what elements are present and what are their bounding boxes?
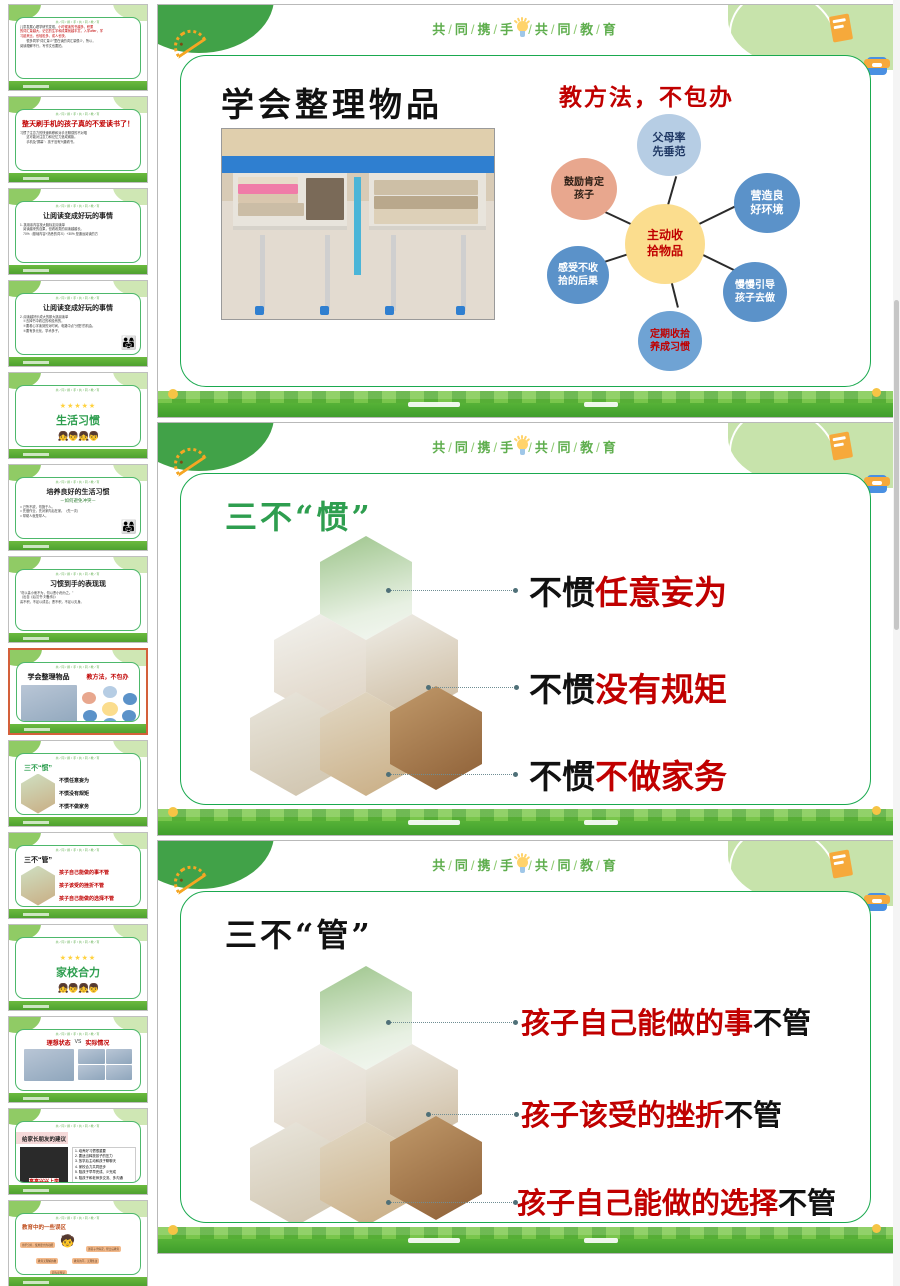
bullet-emphasis: 不管: [753, 1006, 811, 1040]
slide-heading: 三不“管”: [225, 910, 373, 956]
banner-segment-2: 同: [455, 858, 471, 873]
node-line-1: 鼓励肯定: [564, 176, 604, 189]
thumb-mindmap: [80, 685, 136, 723]
bullet-item-3: 孩子自己能做的选择不管: [517, 1180, 836, 1222]
banner-separator: /: [471, 440, 478, 455]
thumb-body: 孩子自己能做的事不管孩子该受的挫折不管孩子自己能做的选择不管: [16, 866, 140, 906]
thumb-title-right: 实际情况: [85, 1038, 109, 1047]
banner-segment-8: 育: [603, 22, 619, 37]
bullet-item-2: 不惯没有规矩: [529, 663, 727, 711]
thumb-title: 习惯到手的表现现: [16, 576, 140, 590]
schoolbag-icon: [867, 893, 887, 911]
slide-content-card-2: 三不“惯” 不惯任意妄为 不惯没有规矩: [180, 473, 871, 805]
classroom-desk-photo: [221, 128, 495, 320]
banner-separator: /: [448, 858, 455, 873]
banner-segment-3: 携: [478, 22, 494, 37]
thumb-body: 1. 挑用亲内容找大脑标定阅读单 阅读越来的自果，但看着类的阅读越越长。 70%…: [16, 222, 140, 239]
thumb-title-card: ★★★★★家校合力👧👦👧👦: [16, 944, 140, 1000]
leader-line-1: [389, 590, 514, 591]
slide-organize-items[interactable]: 共/同/携/手/共/同/教/育 学会整理物品: [157, 4, 894, 418]
bullet-item-3: 不惯不做家务: [529, 750, 727, 798]
thumb-banner: 共/同/携/手/共/同/教/育: [16, 1122, 140, 1128]
mindmap-node-guide-slowly[interactable]: 慢慢引导 孩子去做: [723, 262, 787, 322]
thumb-grass-strip: [9, 909, 147, 918]
thumb-body: "勿以善小而不为，勿以恶小而为之。"（出自《后汉书·刘备传》）善不积，不足以成名…: [16, 590, 140, 607]
bullet-prefix: 孩子该受的挫折: [521, 1098, 724, 1132]
thumb-grass-strip: [9, 449, 147, 458]
mindmap-node-encourage[interactable]: 鼓励肯定 孩子: [551, 158, 617, 220]
lightbulb-icon: [514, 21, 530, 37]
thumbnail-wrapper: 共/同/携/手/共/同/教/育教育中的一些误区用手分片，使用更大的功能讲孩子学情…: [8, 1200, 149, 1286]
sidebar-slide-9[interactable]: 共/同/携/手/共/同/教/育三不“惯”不惯任意妄为不惯没有规矩不惯不做家务: [8, 740, 148, 827]
thumb-grass-strip: [9, 1277, 147, 1286]
banner-segment-3: 携: [478, 858, 494, 873]
bullet-item-1: 孩子自己能做的事不管: [521, 1000, 811, 1042]
banner-segment-8: 育: [603, 858, 619, 873]
student-illustration: 🧒: [60, 1234, 75, 1248]
slide-heading: 三不“惯”: [225, 492, 373, 538]
sidebar-slide-7[interactable]: 共/同/携/手/共/同/教/育习惯到手的表现现"勿以善小而不为，勿以恶小而为之。…: [8, 556, 148, 643]
thumb-bullet: 不惯没有规矩: [59, 790, 135, 797]
node-line-2: 孩子去做: [735, 292, 775, 305]
sidebar-slide-14[interactable]: 共/同/携/手/共/同/教/育教育中的一些误区用手分片，使用更大的功能讲孩子学情…: [8, 1200, 148, 1286]
bullet-emphasis: 不管: [724, 1098, 782, 1132]
thumb-bullet: 不惯不做家务: [59, 803, 135, 810]
banner-segment-3: 携: [478, 440, 494, 455]
banner-segment-6: 同: [557, 440, 573, 455]
thumb-illustration: 👨‍👩‍👧: [121, 335, 137, 351]
hexagon-photo-collage: [251, 536, 481, 796]
thumb-diagram-node: 讲孩子学情况，帮日后教育: [86, 1246, 121, 1252]
leader-line-2: [429, 687, 515, 688]
thumbnail-wrapper: 共/同/携/手/共/同/教/育学会整理物品教方法，不包办: [8, 648, 149, 735]
slide-content-card-3: 三不“管” 孩子自己能做的事不管 孩子该受的挫折不管: [180, 891, 871, 1223]
thumb-photo: 高高兴兴上学: [20, 1147, 68, 1184]
node-line-1: 父母率: [653, 131, 686, 145]
lightbulb-icon: [514, 439, 530, 455]
thumb-content: 共/同/携/手/共/同/教/育三不“管”孩子自己能做的事不管孩子该受的挫折不管孩…: [15, 845, 141, 907]
thumb-content: 共/同/携/手/共/同/教/育培养良好的生活习惯－如何避免冲突－□ 己所不欲，勿…: [15, 477, 141, 539]
node-line-2: 好环境: [751, 203, 784, 217]
node-line-2: 孩子: [564, 189, 604, 202]
thumbnail-wrapper: 共/同/携/手/共/同/教/育让阅读变成好玩的事情2. 阅读越好乐成大的那大挑阅…: [8, 280, 149, 367]
banner-segment-2: 同: [455, 440, 471, 455]
thumb-content: 共/同/携/手/共/同/教/育教育中的一些误区用手分片，使用更大的功能讲孩子学情…: [15, 1213, 141, 1275]
thumb-hex-art: [21, 866, 55, 906]
thumb-list-item: 6. 陪孩子和老师多交流、多沟通: [75, 1176, 133, 1181]
children-illustration: 👧👦👧👦: [58, 431, 99, 442]
node-line-2: 养成习惯: [650, 341, 690, 354]
slide-content-card-1: 学会整理物品: [180, 55, 871, 387]
sidebar-slide-5[interactable]: 共/同/携/手/共/同/教/育★★★★★生活习惯👧👦👧👦: [8, 372, 148, 459]
thumb-body: 理想状态VS实际情况: [16, 1036, 140, 1083]
flower-icon-right: [872, 1224, 881, 1233]
bullet-emphasis: 不做家务: [595, 757, 727, 796]
flower-icon-right: [872, 806, 881, 815]
thumb-text-line: ③要有多元化，学术多子。: [20, 329, 136, 334]
thumbnail-wrapper: 共/同/携/手/共/同/教/育理想状态VS实际情况: [8, 1016, 149, 1103]
thumb-body: 习惯了注意力的快速转移和对手无聊感的不对唱 这可能对注意力和记忆力造成威胁。 手…: [16, 130, 140, 147]
schoolbag-icon: [867, 475, 887, 493]
banner-segment-5: 共: [535, 22, 551, 37]
banner-segment-1: 共: [432, 22, 448, 37]
node-line-1: 感受不收: [558, 262, 598, 275]
thumbnail-wrapper: 共/同/携/手/共/同/教/育儿童发展心理学研究发现，小时候读的书越多，积累的词…: [8, 4, 149, 91]
thumb-photo: [21, 685, 77, 723]
sidebar-slide-4[interactable]: 共/同/携/手/共/同/教/育让阅读变成好玩的事情2. 阅读越好乐成大的那大挑阅…: [8, 280, 148, 367]
thumb-title: 给家长朋友的建议: [16, 1132, 68, 1144]
banner-separator: /: [448, 22, 455, 37]
thumb-big-title: 家校合力: [56, 964, 100, 980]
mindmap-node-good-environment[interactable]: 营造良 好环境: [734, 173, 800, 233]
thumb-grass-strip: [9, 1001, 147, 1010]
thumb-diagram-node: 用手分片，使用更大的功能: [20, 1242, 55, 1248]
thumb-title: 培养良好的生活习惯: [16, 484, 140, 498]
bullet-prefix: 不惯: [529, 573, 595, 612]
thumbnail-wrapper: 共/同/携/手/共/同/教/育培养良好的生活习惯－如何避免冲突－□ 己所不欲，勿…: [8, 464, 149, 551]
schoolbag-icon: [867, 57, 887, 75]
banner-segment-7: 教: [580, 22, 596, 37]
sidebar-slide-11[interactable]: 共/同/携/手/共/同/教/育★★★★★家校合力👧👦👧👦: [8, 924, 148, 1011]
bullet-prefix: 不惯: [529, 757, 595, 796]
thumb-grass-strip: [9, 633, 147, 642]
thumb-content: 共/同/携/手/共/同/教/育让阅读变成好玩的事情1. 挑用亲内容找大脑标定阅读…: [15, 201, 141, 263]
thumb-diagram: 用手分片，使用更大的功能讲孩子学情况，帮日后教育教育无理解的教教育的不，无理性改…: [16, 1232, 140, 1276]
mindmap-node-consequences[interactable]: 感受不收 拾的后果: [547, 246, 609, 304]
thumb-bullet: 不惯任意妄为: [59, 777, 135, 784]
children-illustration: 👧👦👧👦: [58, 983, 99, 994]
sidebar-slide-3[interactable]: 共/同/携/手/共/同/教/育让阅读变成好玩的事情1. 挑用亲内容找大脑标定阅读…: [8, 188, 148, 275]
node-line-1: 定期收拾: [650, 328, 690, 341]
thumb-photo-grid: [78, 1049, 132, 1081]
node-line-2: 拾的后果: [558, 275, 598, 288]
thumb-content: 共/同/携/手/共/同/教/育给家长朋友的建议高高兴兴上学1. 培养好习惯很重要…: [15, 1121, 141, 1183]
thumb-content: 共/同/携/手/共/同/教/育整天刷手机的孩子真的不爱读书了！习惯了注意力的快速…: [15, 109, 141, 171]
banner-separator: /: [471, 858, 478, 873]
thumb-grass-strip: [9, 1093, 147, 1102]
thumbnail-wrapper: 共/同/携/手/共/同/教/育让阅读变成好玩的事情1. 挑用亲内容找大脑标定阅读…: [8, 188, 149, 275]
vertical-scrollbar[interactable]: [893, 0, 900, 1286]
leader-line-2: [429, 1114, 515, 1115]
slide-subtitle: 教方法，不包办: [559, 78, 734, 112]
node-line-1: 慢慢引导: [735, 279, 775, 292]
thumb-diagram-node: 教育的不，无理性改: [72, 1258, 99, 1264]
slide-title: 学会整理物品: [221, 78, 443, 126]
thumb-content: 共/同/携/手/共/同/教/育★★★★★家校合力👧👦👧👦: [15, 937, 141, 999]
banner-segment-5: 共: [535, 858, 551, 873]
thumb-bullet: 孩子自己能做的事不管: [59, 869, 135, 876]
mindmap-node-parent-model[interactable]: 父母率 先垂范: [637, 114, 701, 176]
slide-banner-3: 共/同/携/手/共/同/教/育: [158, 855, 893, 874]
thumbnail-wrapper: 共/同/携/手/共/同/教/育★★★★★家校合力👧👦👧👦: [8, 924, 149, 1011]
banner-segment-7: 教: [580, 440, 596, 455]
sidebar-slide-2[interactable]: 共/同/携/手/共/同/教/育整天刷手机的孩子真的不爱读书了！习惯了注意力的快速…: [8, 96, 148, 183]
sidebar-slide-10[interactable]: 共/同/携/手/共/同/教/育三不“管”孩子自己能做的事不管孩子该受的挫折不管孩…: [8, 832, 148, 919]
banner-separator: /: [448, 440, 455, 455]
thumbnail-wrapper: 共/同/携/手/共/同/教/育习惯到手的表现现"勿以善小而不为，勿以恶小而为之。…: [8, 556, 149, 643]
banner-separator: /: [596, 22, 603, 37]
thumb-grass-strip: [9, 81, 147, 90]
slide-thumbnail-sidebar[interactable]: 共/同/携/手/共/同/教/育儿童发展心理学研究发现，小时候读的书越多，积累的词…: [0, 0, 155, 1286]
thumb-content: 共/同/携/手/共/同/教/育习惯到手的表现现"勿以善小而不为，勿以恶小而为之。…: [15, 569, 141, 631]
thumb-illustration: 👨‍👩‍👧: [121, 519, 137, 535]
slide-three-no-spoil[interactable]: 共/同/携/手/共/同/教/育 三不“惯” 不惯任意妄为: [157, 422, 894, 836]
slide-main-pane: 共/同/携/手/共/同/教/育 学会整理物品: [155, 0, 900, 1286]
thumb-diagram-node: 教育无理解的教: [36, 1258, 58, 1264]
banner-segment-5: 共: [535, 440, 551, 455]
thumb-text-line: 手机及“屏幕”：孩子没有兴趣看书。: [20, 140, 136, 145]
bullet-prefix: 孩子自己能做的选择: [517, 1186, 778, 1220]
thumb-big-title: 生活习惯: [56, 412, 100, 428]
thumb-content: 共/同/携/手/共/同/教/育学会整理物品教方法，不包办: [16, 662, 140, 722]
sidebar-slide-1[interactable]: 共/同/携/手/共/同/教/育儿童发展心理学研究发现，小时候读的书越多，积累的词…: [8, 4, 148, 91]
banner-separator: /: [471, 22, 478, 37]
thumb-text-line: 70%（基础内容+熟悉的词义）+30% 是通远阅读的方: [20, 232, 136, 237]
sidebar-slide-6[interactable]: 共/同/携/手/共/同/教/育培养良好的生活习惯－如何避免冲突－□ 己所不欲，勿…: [8, 464, 148, 551]
scrollbar-thumb[interactable]: [894, 300, 899, 630]
thumb-hex-art: [21, 774, 55, 814]
presentation-editor: 共/同/携/手/共/同/教/育儿童发展心理学研究发现，小时候读的书越多，积累的词…: [0, 0, 900, 1286]
thumb-title: 三不“惯”: [16, 760, 140, 774]
bullet-item-1: 不惯任意妄为: [529, 566, 727, 614]
slide-three-no-manage[interactable]: 共/同/携/手/共/同/教/育 三不“管” 孩子自己能做的事不管: [157, 840, 894, 1254]
thumb-content: 共/同/携/手/共/同/教/育儿童发展心理学研究发现，小时候读的书越多，积累的词…: [15, 17, 141, 79]
thumb-content: 共/同/携/手/共/同/教/育理想状态VS实际情况: [15, 1029, 141, 1091]
flower-icon-right: [872, 388, 881, 397]
thumbnail-wrapper: 共/同/携/手/共/同/教/育给家长朋友的建议高高兴兴上学1. 培养好习惯很重要…: [8, 1108, 149, 1195]
thumb-body: 儿童发展心理学研究发现，小时候读的书越多，积累的词汇量越大，记忆的生字和成果就越…: [16, 24, 140, 51]
flower-icon-left: [168, 807, 178, 817]
banner-segment-1: 共: [432, 858, 448, 873]
hexagon-photo-collage: [251, 966, 481, 1223]
thumb-content: 共/同/携/手/共/同/教/育★★★★★生活习惯👧👦👧👦: [15, 385, 141, 447]
grass-footer-strip: [158, 1235, 893, 1253]
thumb-body: 高高兴兴上学1. 培养好习惯很重要2. 要适当释放孩子的压力3. 放学后主动和孩…: [16, 1146, 140, 1184]
thumb-grass-strip: [9, 541, 147, 550]
banner-segment-1: 共: [432, 440, 448, 455]
bullet-prefix: 不惯: [529, 670, 595, 709]
mindmap-center-node[interactable]: 主动收 拾物品: [625, 204, 705, 284]
grass-footer-strip: [158, 399, 893, 417]
thumb-title: 三不“管”: [16, 852, 140, 866]
thumb-text-line: □ 帮助人就是帮人。: [20, 514, 136, 519]
node-line-1: 营造良: [751, 189, 784, 203]
thumb-photo-left: [24, 1049, 74, 1081]
thumbnail-wrapper: 共/同/携/手/共/同/教/育三不“管”孩子自己能做的事不管孩子该受的挫折不管孩…: [8, 832, 149, 919]
center-line-2: 拾物品: [647, 244, 683, 260]
thumb-text-line: 善不积，不足以成名；恶不积，不足以灭身。: [20, 600, 136, 605]
thumb-body: 2. 阅读越好乐成大的那大挑阅读单 ①去掉书中看过的和没有的， ②要看心字读到的…: [16, 314, 140, 336]
bullet-item-2: 孩子该受的挫折不管: [521, 1092, 782, 1134]
thumb-title: 教育中的一些误区: [16, 1220, 140, 1232]
banner-segment-7: 教: [580, 858, 596, 873]
bullet-emphasis: 任意妄为: [595, 573, 727, 612]
thumbnail-wrapper: 共/同/携/手/共/同/教/育三不“惯”不惯任意妄为不惯没有规矩不惯不做家务: [8, 740, 149, 827]
thumb-title: 让阅读变成好玩的事情: [16, 208, 140, 222]
thumb-title-left: 理想状态: [47, 1038, 71, 1047]
bullet-emphasis: 不管: [778, 1186, 836, 1220]
slide-banner-2: 共/同/携/手/共/同/教/育: [158, 437, 893, 456]
stars-icon: ★★★★★: [60, 954, 96, 962]
thumb-body: □ 己所不欲，勿施于人。□ 先做作业，先对家内后在家。（先一次）□ 帮助人就是帮…: [16, 504, 140, 521]
thumb-title-card: ★★★★★生活习惯👧👦👧👦: [16, 392, 140, 448]
bullet-emphasis: 没有规矩: [595, 670, 727, 709]
lightbulb-icon: [514, 857, 530, 873]
thumb-body: 不惯任意妄为不惯没有规矩不惯不做家务: [16, 774, 140, 814]
thumb-grass-strip: [9, 1185, 147, 1194]
bullet-prefix: 孩子自己能做的事: [521, 1006, 753, 1040]
slide-banner-1: 共/同/携/手/共/同/教/育: [158, 19, 893, 38]
banner-segment-8: 育: [603, 440, 619, 455]
banner-segment-6: 同: [557, 22, 573, 37]
leader-line-1: [389, 1022, 514, 1023]
flower-icon-left: [168, 1225, 178, 1235]
sidebar-slide-12[interactable]: 共/同/携/手/共/同/教/育理想状态VS实际情况: [8, 1016, 148, 1103]
thumbnail-wrapper: 共/同/携/手/共/同/教/育★★★★★生活习惯👧👦👧👦: [8, 372, 149, 459]
thumb-text-line: 阅读理解不行，写作文也要拍。: [20, 44, 136, 49]
thumb-grass-strip: [9, 173, 147, 182]
thumb-grass-strip: [10, 724, 146, 733]
leader-line-3: [389, 1202, 514, 1203]
thumb-grass-strip: [9, 817, 147, 826]
banner-segment-6: 同: [557, 858, 573, 873]
thumb-grass-strip: [9, 357, 147, 366]
thumb-diagram-node: 同为反所是: [50, 1270, 67, 1276]
mindmap-container: 教方法，不包办 主动收 拾物品: [527, 66, 856, 378]
sidebar-slide-8[interactable]: 共/同/携/手/共/同/教/育学会整理物品教方法，不包办: [8, 648, 148, 735]
thumbnail-wrapper: 共/同/携/手/共/同/教/育整天刷手机的孩子真的不爱读书了！习惯了注意力的快速…: [8, 96, 149, 183]
thumb-body: [17, 683, 139, 723]
thumb-content: 共/同/携/手/共/同/教/育让阅读变成好玩的事情2. 阅读越好乐成大的那大挑阅…: [15, 293, 141, 355]
stars-icon: ★★★★★: [60, 402, 96, 410]
leader-line-3: [389, 774, 514, 775]
thumb-title: 学会整理物品教方法，不包办: [17, 669, 139, 683]
thumb-bullet: 孩子该受的挫折不管: [59, 882, 135, 889]
thumb-title-vs: VS: [75, 1039, 82, 1045]
thumb-title: 整天刷手机的孩子真的不爱读书了！: [16, 116, 140, 130]
mindmap-node-regular-tidy[interactable]: 定期收拾 养成习惯: [638, 311, 702, 371]
thumb-title: 让阅读变成好玩的事情: [16, 300, 140, 314]
thumb-content: 共/同/携/手/共/同/教/育三不“惯”不惯任意妄为不惯没有规矩不惯不做家务: [15, 753, 141, 815]
thumb-grass-strip: [9, 265, 147, 274]
banner-separator: /: [596, 858, 603, 873]
banner-segment-2: 同: [455, 22, 471, 37]
center-line-1: 主动收: [647, 228, 683, 244]
thumb-bullet: 孩子自己能做的选择不管: [59, 895, 135, 902]
banner-separator: /: [596, 440, 603, 455]
node-line-2: 先垂范: [653, 145, 686, 159]
grass-footer-strip: [158, 817, 893, 835]
sidebar-slide-13[interactable]: 共/同/携/手/共/同/教/育给家长朋友的建议高高兴兴上学1. 培养好习惯很重要…: [8, 1108, 148, 1195]
flower-icon-left: [168, 389, 178, 399]
